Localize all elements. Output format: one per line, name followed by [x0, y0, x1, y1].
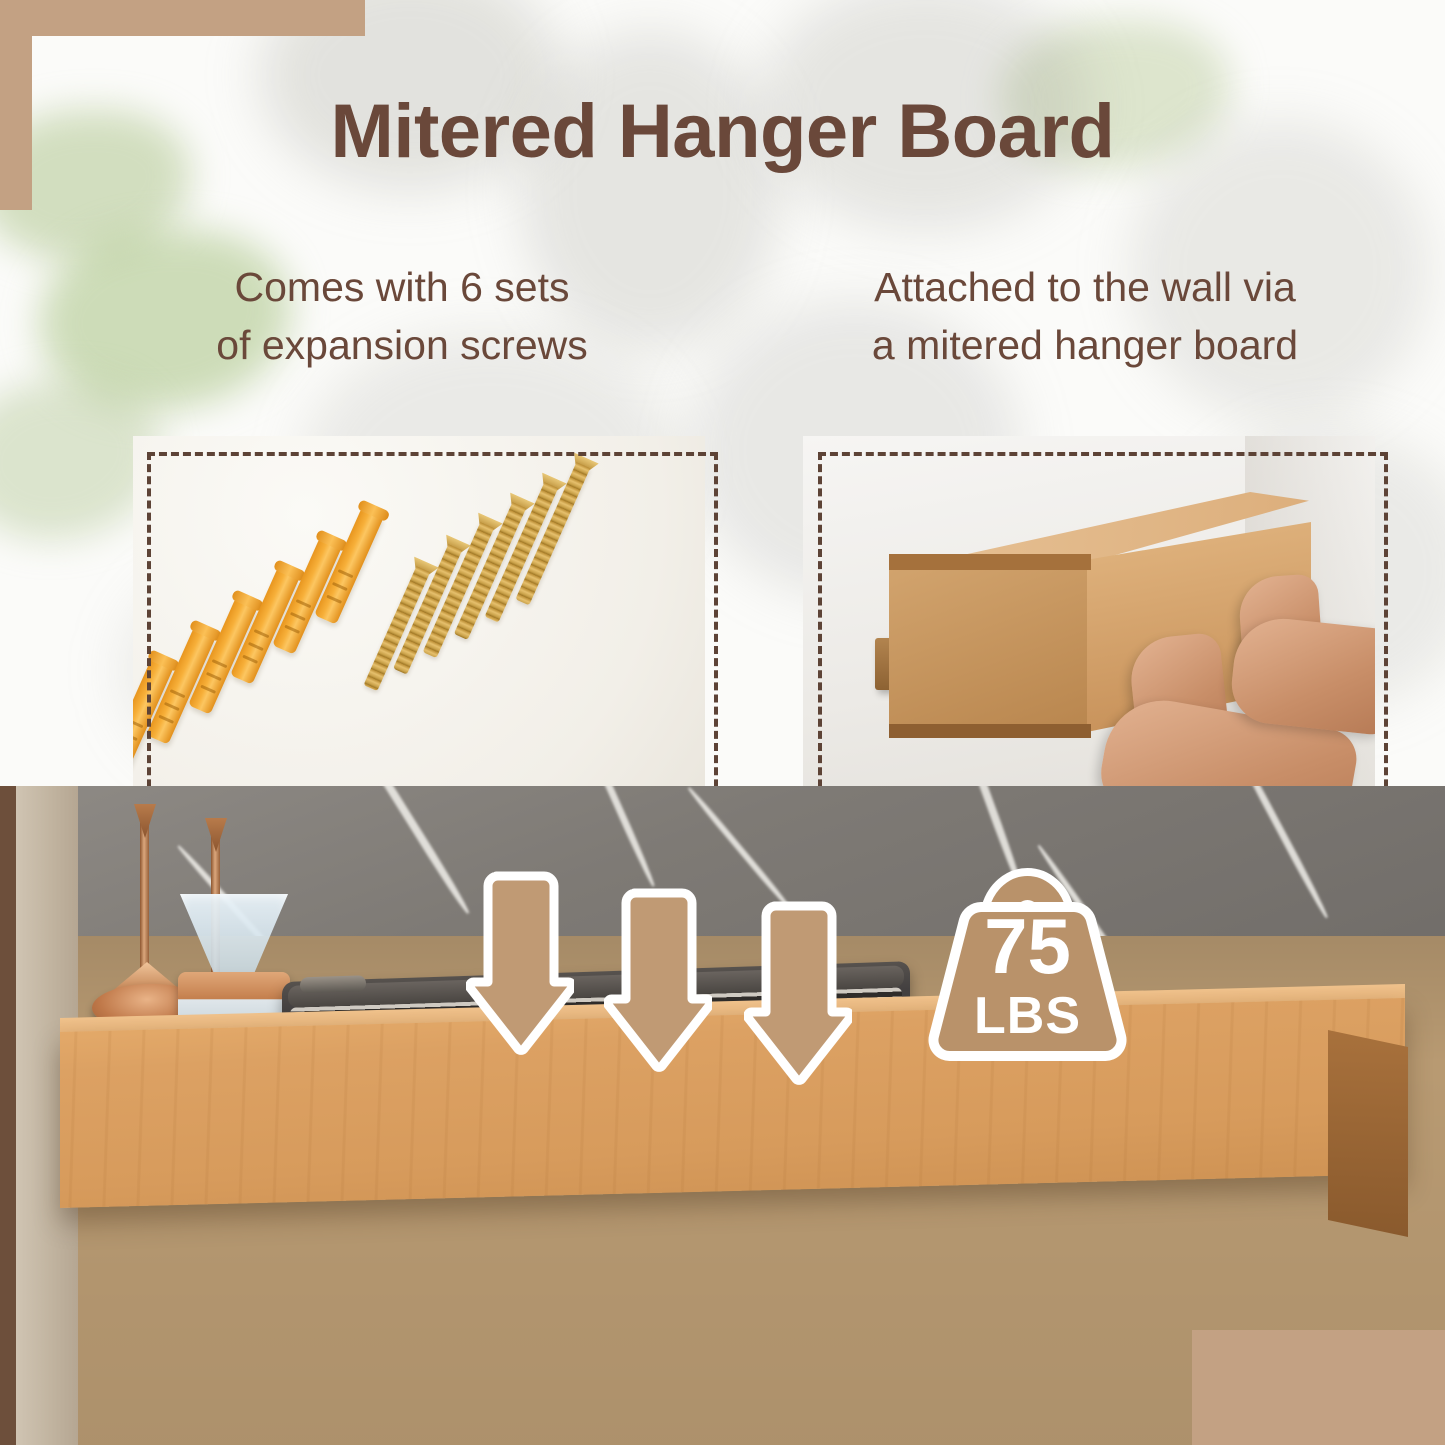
arrow-down-icon-3	[744, 898, 852, 1088]
weight-unit: LBS	[905, 990, 1150, 1042]
arrow-down-icon-1	[466, 868, 574, 1058]
floating-shelf-right-end	[1328, 1030, 1408, 1237]
feature-caption-screws-line2: of expansion screws	[112, 316, 692, 374]
arrow-down-icon-2	[604, 885, 712, 1075]
feature-caption-hanger-line1: Attached to the wall via	[745, 258, 1425, 316]
corner-block-bottom-right	[1192, 1330, 1445, 1445]
infographic-poster: Mitered Hanger Board Comes with 6 sets o…	[0, 0, 1445, 1445]
feature-caption-screws-line1: Comes with 6 sets	[112, 258, 692, 316]
floating-shelf	[60, 998, 1405, 1208]
candle-holder-rod-1	[140, 822, 149, 972]
weight-capacity-badge: 75 LBS	[905, 845, 1150, 1070]
weight-value: 75	[905, 907, 1150, 985]
corner-bracket-top-left-horizontal	[0, 0, 365, 36]
feature-caption-screws: Comes with 6 sets of expansion screws	[112, 258, 692, 374]
wall-edge-left	[0, 786, 16, 1445]
page-title: Mitered Hanger Board	[0, 88, 1445, 175]
feature-caption-hanger: Attached to the wall via a mitered hange…	[745, 258, 1425, 374]
feature-caption-hanger-line2: a mitered hanger board	[745, 316, 1425, 374]
